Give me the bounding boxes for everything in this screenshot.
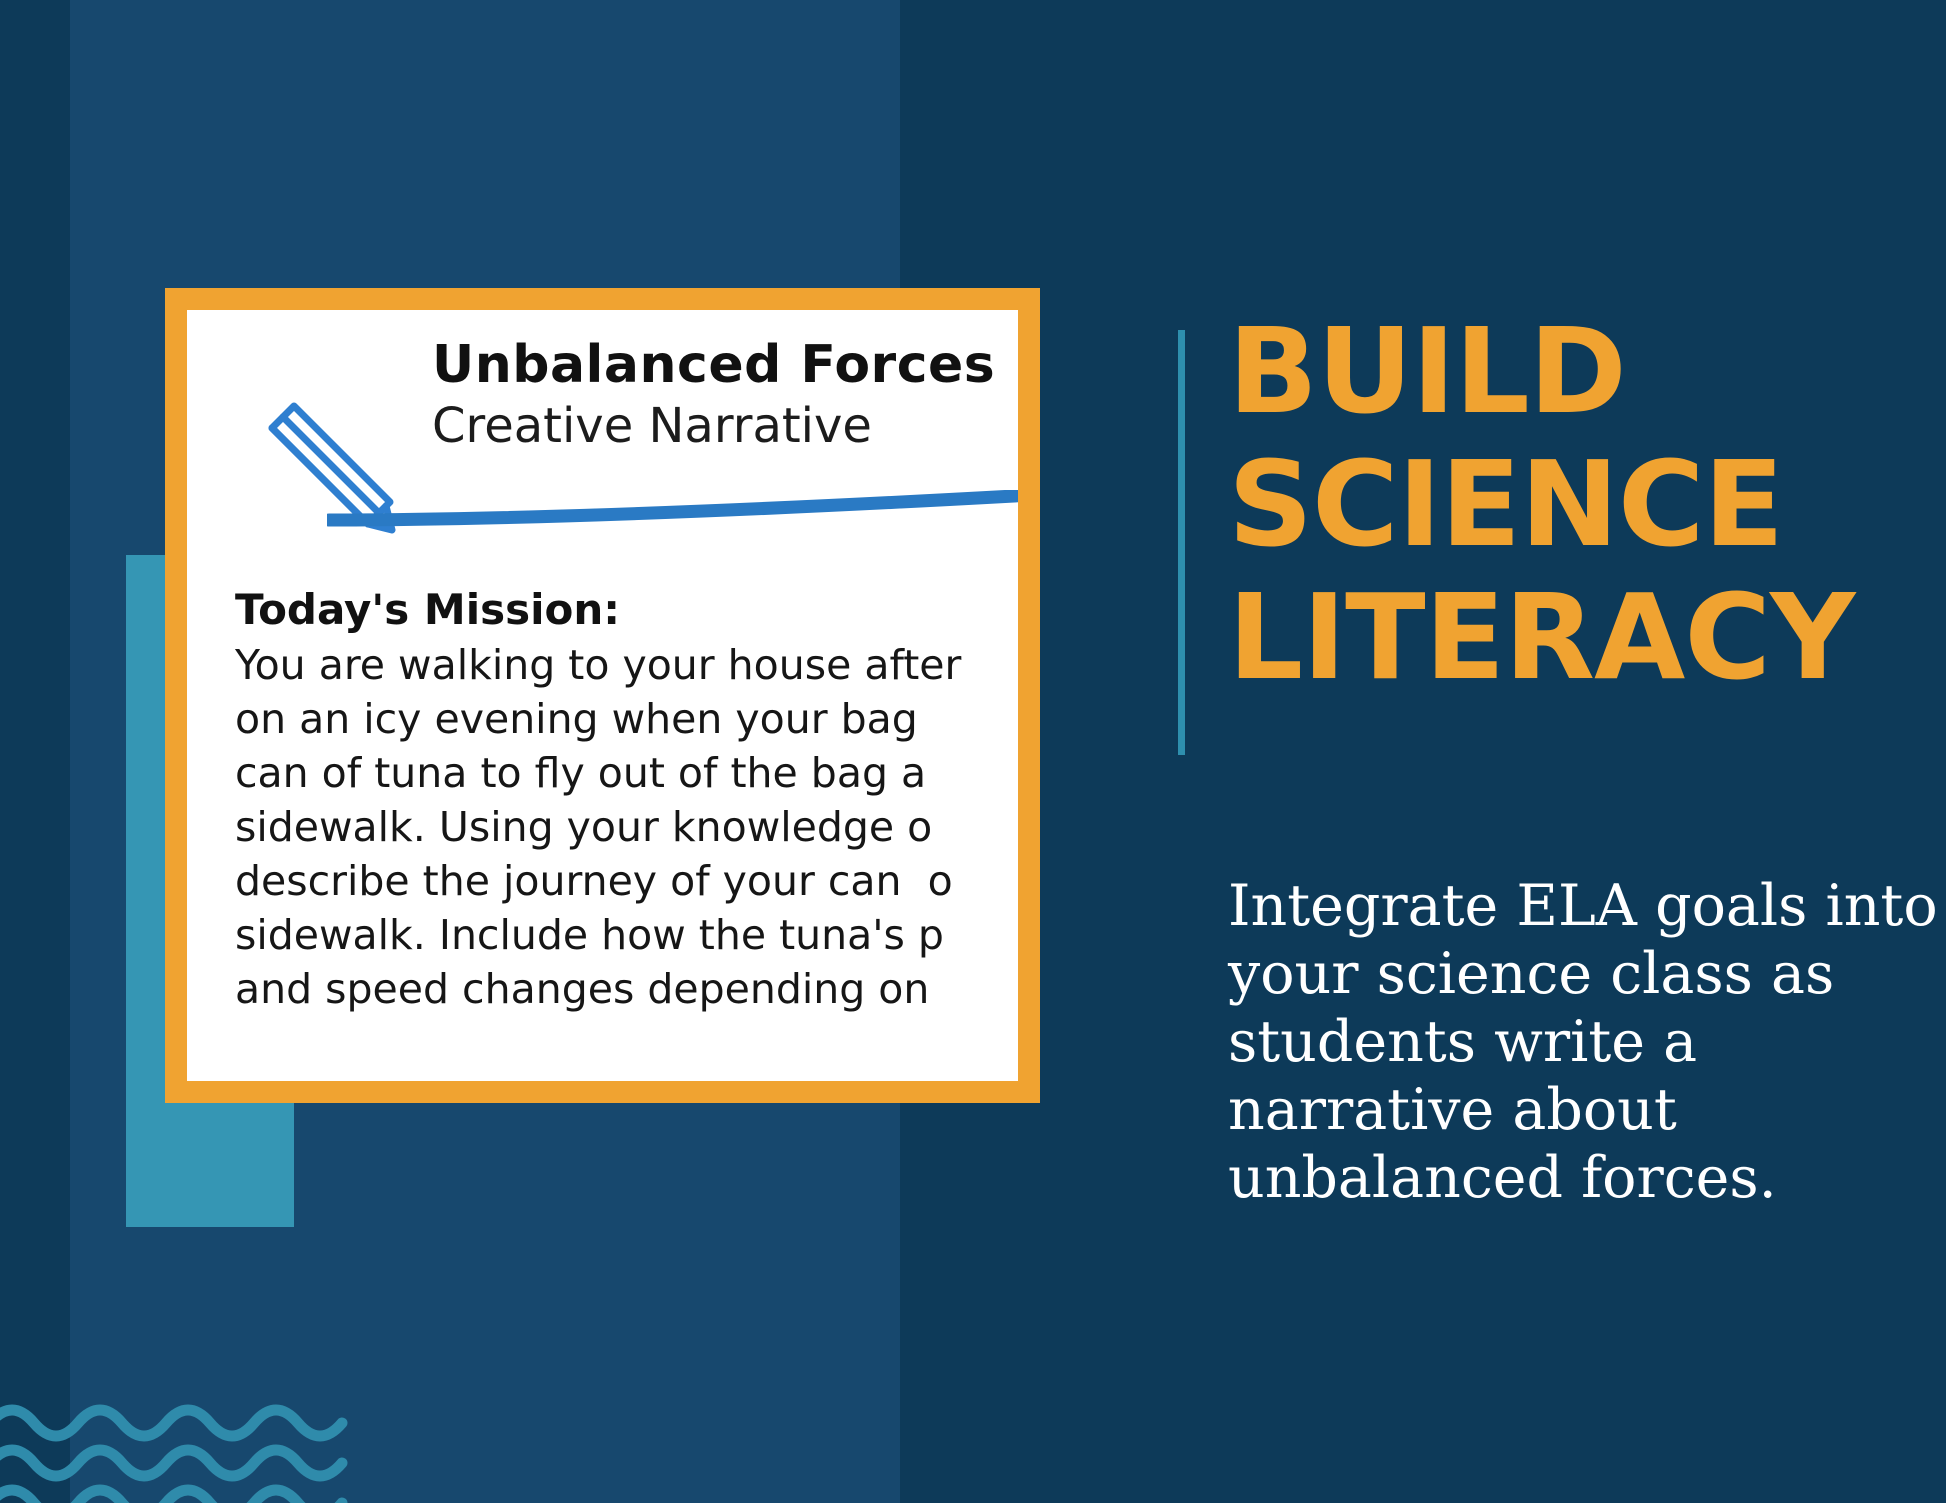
worksheet-title: Unbalanced Forces: [432, 335, 995, 395]
background-right-panel: [900, 0, 1946, 1503]
poster-canvas: Unbalanced Forces Creative Narrative Tod…: [0, 0, 1946, 1503]
headline-line-3: LITERACY: [1228, 571, 1928, 704]
promo-subcopy: Integrate ELA goals into your science cl…: [1228, 872, 1946, 1212]
background-dark-strip: [0, 0, 70, 1503]
headline-accent-rule: [1178, 330, 1185, 755]
worksheet-page: Unbalanced Forces Creative Narrative Tod…: [187, 310, 1018, 1081]
underline-swoosh: [327, 490, 1018, 530]
worksheet-subtitle: Creative Narrative: [432, 398, 872, 454]
mission-body-text: You are walking to your house after on a…: [235, 638, 1018, 1016]
worksheet-card[interactable]: Unbalanced Forces Creative Narrative Tod…: [165, 288, 1040, 1103]
wave-decoration: [0, 1395, 350, 1503]
mission-label: Today's Mission:: [235, 585, 620, 634]
headline-line-1: BUILD: [1228, 305, 1928, 438]
headline: BUILD SCIENCE LITERACY: [1228, 305, 1928, 704]
headline-line-2: SCIENCE: [1228, 438, 1928, 571]
